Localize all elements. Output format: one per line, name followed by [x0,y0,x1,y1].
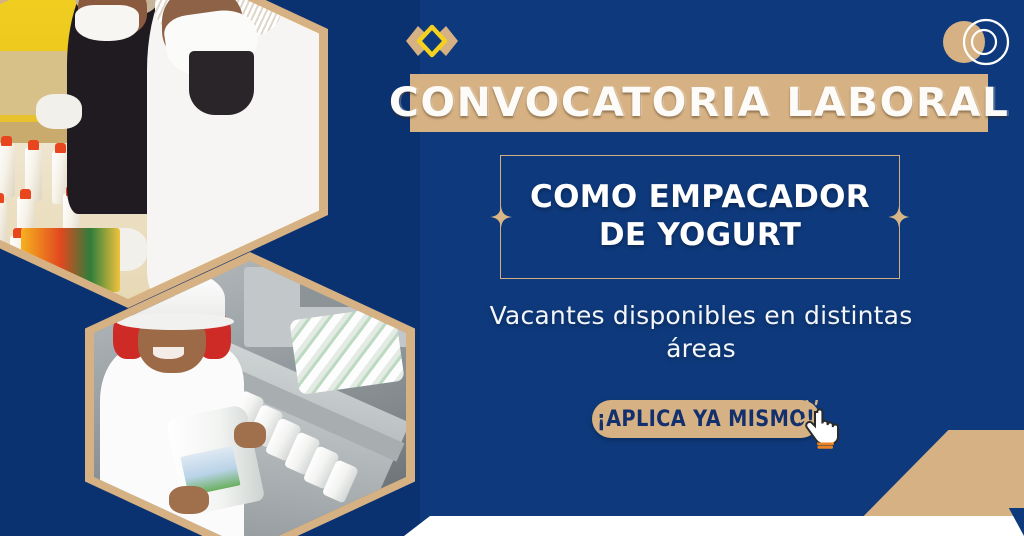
body-copy: Vacantes disponibles en distintas áreas [470,300,932,365]
page-title: CONVOCATORIA LABORAL [389,80,1010,126]
photo1-worker-a-mask [75,5,140,40]
apply-now-label: ¡APLICA YA MISMO! [597,407,815,432]
subtitle-line-1: COMO EMPACADOR [530,179,870,215]
photo2-worker-smile [153,347,184,359]
diamond-chevron-emblem-icon [402,20,462,62]
photo2-hard-hat-brim [116,313,235,330]
photo1-worker-b-collar [189,51,254,115]
photo2-hand [234,422,265,448]
subtitle-line-2: DE YOGURT [530,217,870,255]
photo2-hand [169,486,210,515]
poster-canvas: CONVOCATORIA LABORAL COMO EMPACADOR DE Y… [0,0,1024,536]
photo2-packaged-bags [289,306,404,395]
sparkle-icon [490,206,512,228]
sparkle-icon [888,206,910,228]
subtitle: COMO EMPACADOR DE YOGURT [520,179,880,255]
apply-now-button[interactable]: ¡APLICA YA MISMO! [592,400,820,438]
photo1-bottle [0,200,7,254]
title-banner: CONVOCATORIA LABORAL [410,74,988,132]
photo1-glove [36,94,82,129]
photo1-bottle [0,143,15,197]
subtitle-frame: COMO EMPACADOR DE YOGURT [500,155,900,279]
overlapping-circles-logo-icon [938,16,1012,70]
